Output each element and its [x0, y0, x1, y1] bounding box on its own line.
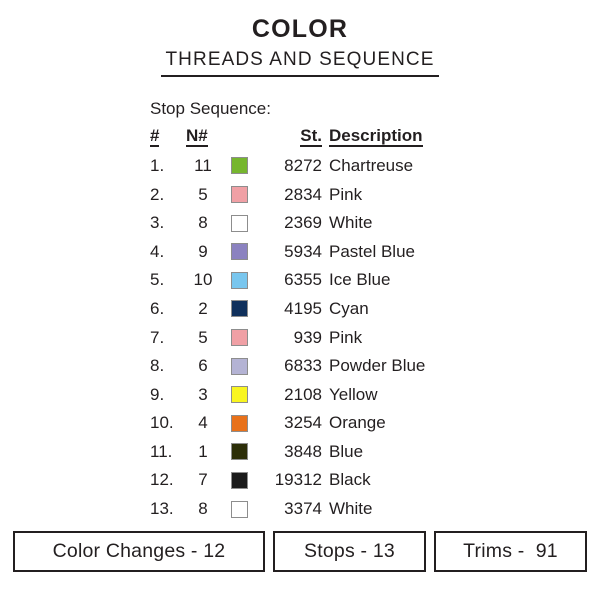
row-needle-number: 5 [184, 323, 222, 352]
table-header: # N# St. Description [150, 127, 425, 151]
table-row: 7.5939Pink [150, 323, 425, 352]
row-needle-number: 6 [184, 351, 222, 380]
table-row: 10.43254Orange [150, 408, 425, 437]
color-swatch-icon [231, 358, 248, 375]
row-needle-number: 11 [184, 151, 222, 180]
page-title-block: COLOR THREADS AND SEQUENCE [0, 0, 600, 77]
summary-boxes: Color Changes - 12 Stops - 13 Trims - 91 [0, 531, 600, 572]
column-header-swatch [222, 127, 256, 151]
table-row: 4.95934Pastel Blue [150, 237, 425, 266]
row-index: 1. [150, 151, 184, 180]
row-color-swatch-cell [222, 151, 256, 180]
row-stitch-count: 2834 [256, 180, 329, 209]
row-index: 9. [150, 380, 184, 409]
row-color-swatch-cell [222, 494, 256, 523]
color-swatch-icon [231, 300, 248, 317]
row-description: Powder Blue [329, 351, 425, 380]
row-description: White [329, 208, 425, 237]
row-index: 12. [150, 466, 184, 495]
column-header-description-label: Description [329, 127, 423, 147]
color-swatch-icon [231, 186, 248, 203]
table-row: 9.32108Yellow [150, 380, 425, 409]
row-index: 13. [150, 494, 184, 523]
row-stitch-count: 19312 [256, 466, 329, 495]
table-row: 1.118272Chartreuse [150, 151, 425, 180]
row-color-swatch-cell [222, 466, 256, 495]
color-swatch-icon [231, 272, 248, 289]
row-needle-number: 2 [184, 294, 222, 323]
row-description: Black [329, 466, 425, 495]
column-header-needle: N# [184, 127, 222, 151]
color-swatch-icon [231, 215, 248, 232]
color-swatch-icon [231, 386, 248, 403]
row-index: 5. [150, 266, 184, 295]
row-index: 8. [150, 351, 184, 380]
table-row: 5.106355Ice Blue [150, 266, 425, 295]
row-needle-number: 10 [184, 266, 222, 295]
column-header-stitches-label: St. [300, 127, 322, 147]
column-header-needle-label: N# [186, 127, 208, 147]
row-stitch-count: 3254 [256, 408, 329, 437]
stop-sequence-caption: Stop Sequence: [150, 99, 600, 119]
color-swatch-icon [231, 443, 248, 460]
row-color-swatch-cell [222, 408, 256, 437]
stop-sequence-table: # N# St. Description 1.118272Chartreuse2… [150, 127, 425, 523]
color-swatch-icon [231, 329, 248, 346]
trims-label: Trims - 91 [463, 540, 558, 563]
stops-box: Stops - 13 [273, 531, 426, 572]
row-needle-number: 8 [184, 208, 222, 237]
row-needle-number: 4 [184, 408, 222, 437]
page-title: COLOR [0, 16, 600, 44]
trims-box: Trims - 91 [434, 531, 587, 572]
row-needle-number: 5 [184, 180, 222, 209]
row-color-swatch-cell [222, 237, 256, 266]
row-stitch-count: 6355 [256, 266, 329, 295]
row-description: Cyan [329, 294, 425, 323]
row-description: Chartreuse [329, 151, 425, 180]
row-color-swatch-cell [222, 294, 256, 323]
stop-sequence-section: Stop Sequence: # N# St. Description 1.11… [0, 99, 600, 523]
row-index: 11. [150, 437, 184, 466]
row-description: Blue [329, 437, 425, 466]
color-swatch-icon [231, 243, 248, 260]
table-row: 3.82369White [150, 208, 425, 237]
column-header-index-label: # [150, 127, 159, 147]
color-changes-label: Color Changes - 12 [53, 540, 226, 563]
row-description: Pink [329, 323, 425, 352]
color-swatch-icon [231, 157, 248, 174]
row-needle-number: 1 [184, 437, 222, 466]
row-index: 7. [150, 323, 184, 352]
table-header-row: # N# St. Description [150, 127, 425, 151]
row-stitch-count: 5934 [256, 237, 329, 266]
row-stitch-count: 8272 [256, 151, 329, 180]
row-stitch-count: 3374 [256, 494, 329, 523]
page-subtitle: THREADS AND SEQUENCE [161, 47, 438, 78]
row-color-swatch-cell [222, 208, 256, 237]
column-header-index: # [150, 127, 184, 151]
table-row: 2.52834Pink [150, 180, 425, 209]
row-stitch-count: 939 [256, 323, 329, 352]
row-description: Orange [329, 408, 425, 437]
row-index: 4. [150, 237, 184, 266]
row-color-swatch-cell [222, 266, 256, 295]
row-stitch-count: 3848 [256, 437, 329, 466]
row-description: White [329, 494, 425, 523]
row-color-swatch-cell [222, 323, 256, 352]
row-index: 3. [150, 208, 184, 237]
row-description: Yellow [329, 380, 425, 409]
column-header-stitches: St. [256, 127, 329, 151]
color-swatch-icon [231, 472, 248, 489]
row-index: 2. [150, 180, 184, 209]
table-row: 13.83374White [150, 494, 425, 523]
column-header-description: Description [329, 127, 425, 151]
row-needle-number: 3 [184, 380, 222, 409]
row-description: Ice Blue [329, 266, 425, 295]
color-swatch-icon [231, 415, 248, 432]
row-needle-number: 7 [184, 466, 222, 495]
color-changes-box: Color Changes - 12 [13, 531, 265, 572]
table-row: 8.66833Powder Blue [150, 351, 425, 380]
row-stitch-count: 4195 [256, 294, 329, 323]
table-row: 12.719312Black [150, 466, 425, 495]
table-row: 11.13848Blue [150, 437, 425, 466]
row-stitch-count: 6833 [256, 351, 329, 380]
row-stitch-count: 2369 [256, 208, 329, 237]
row-color-swatch-cell [222, 351, 256, 380]
row-color-swatch-cell [222, 380, 256, 409]
row-description: Pink [329, 180, 425, 209]
stops-label: Stops - 13 [304, 540, 395, 563]
row-needle-number: 8 [184, 494, 222, 523]
color-swatch-icon [231, 501, 248, 518]
row-color-swatch-cell [222, 180, 256, 209]
row-needle-number: 9 [184, 237, 222, 266]
row-index: 10. [150, 408, 184, 437]
row-color-swatch-cell [222, 437, 256, 466]
row-index: 6. [150, 294, 184, 323]
row-stitch-count: 2108 [256, 380, 329, 409]
row-description: Pastel Blue [329, 237, 425, 266]
table-body: 1.118272Chartreuse2.52834Pink3.82369Whit… [150, 151, 425, 523]
table-row: 6.24195Cyan [150, 294, 425, 323]
